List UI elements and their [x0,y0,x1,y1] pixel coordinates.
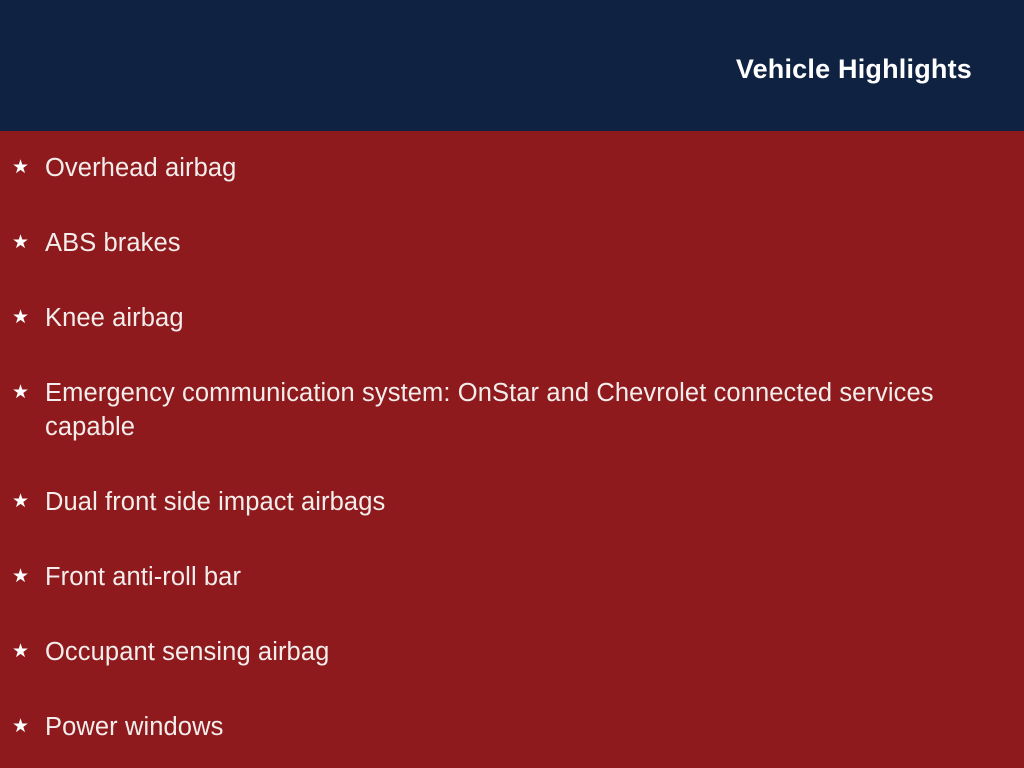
list-item: ★ ABS brakes [12,226,994,260]
list-item-label: Knee airbag [45,301,994,335]
list-item: ★ Power windows [12,710,994,744]
star-bullet-icon: ★ [12,485,45,519]
star-bullet-icon: ★ [12,301,45,335]
list-item-label: Occupant sensing airbag [45,635,994,669]
slide-body: ★ Overhead airbag ★ ABS brakes ★ Knee ai… [0,131,1024,768]
star-bullet-icon: ★ [12,151,45,185]
list-item: ★ Front anti-roll bar [12,560,994,594]
list-item-label: Dual front side impact airbags [45,485,994,519]
page-title: Vehicle Highlights [736,55,972,85]
slide-header: Vehicle Highlights [0,0,1024,131]
star-bullet-icon: ★ [12,710,45,744]
star-bullet-icon: ★ [12,226,45,260]
list-item: ★ Knee airbag [12,301,994,335]
list-item: ★ Dual front side impact airbags [12,485,994,519]
vehicle-highlights-list: ★ Overhead airbag ★ ABS brakes ★ Knee ai… [12,151,994,744]
list-item: ★ Occupant sensing airbag [12,635,994,669]
star-bullet-icon: ★ [12,560,45,594]
list-item-label: Overhead airbag [45,151,994,185]
star-bullet-icon: ★ [12,376,45,410]
list-item-label: Emergency communication system: OnStar a… [45,376,994,444]
list-item-label: Power windows [45,710,994,744]
star-bullet-icon: ★ [12,635,45,669]
list-item: ★ Overhead airbag [12,151,994,185]
slide: Vehicle Highlights ★ Overhead airbag ★ A… [0,0,1024,768]
list-item: ★ Emergency communication system: OnStar… [12,376,994,444]
list-item-label: ABS brakes [45,226,994,260]
list-item-label: Front anti-roll bar [45,560,994,594]
